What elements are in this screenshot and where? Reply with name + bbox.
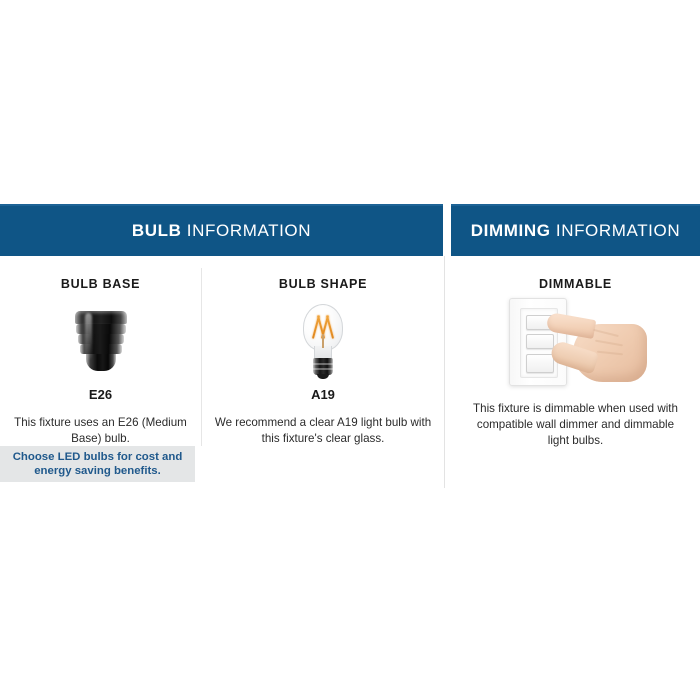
bulb-base-column: BULB BASE E26 This fixture uses an E26 (… xyxy=(0,256,201,447)
bulb-shape-title: BULB SHAPE xyxy=(202,277,444,291)
wall-dimmer-switch-icon xyxy=(501,298,651,386)
dimmable-artwork xyxy=(451,299,700,385)
dimming-information-header-rest: INFORMATION xyxy=(551,221,681,240)
dimmable-title: DIMMABLE xyxy=(451,277,700,291)
bulb-shape-description: We recommend a clear A19 light bulb with… xyxy=(202,415,444,447)
bulb-base-title: BULB BASE xyxy=(0,277,201,291)
bulb-information-header: BULB INFORMATION xyxy=(0,204,443,256)
bulb-information-header-text: BULB INFORMATION xyxy=(132,221,311,241)
e26-highlight xyxy=(85,313,92,359)
a19-stem xyxy=(322,334,324,348)
bulb-shape-artwork xyxy=(202,299,444,385)
bulb-shape-value: A19 xyxy=(202,387,444,402)
bulb-shape-column: BULB SHAPE A19 We recommend a clear A19 … xyxy=(202,256,444,447)
dimmable-column: DIMMABLE xyxy=(451,256,700,449)
main-vertical-divider xyxy=(444,256,445,488)
hand-icon xyxy=(545,312,649,386)
e26-screw-base-icon xyxy=(73,311,129,373)
section-header-row: BULB INFORMATION DIMMING INFORMATION xyxy=(0,204,700,256)
led-tip-text: Choose LED bulbs for cost and energy sav… xyxy=(0,450,195,479)
dimmable-description: This fixture is dimmable when used with … xyxy=(451,401,700,449)
dimming-information-header-strong: DIMMING xyxy=(471,221,551,240)
led-tip-callout: Choose LED bulbs for cost and energy sav… xyxy=(0,446,195,482)
e26-shoulder xyxy=(75,311,127,324)
hand-index-finger xyxy=(545,312,596,339)
bulb-and-dimming-info-panel: BULB INFORMATION DIMMING INFORMATION BUL… xyxy=(0,0,700,700)
bulb-base-value: E26 xyxy=(0,387,201,402)
bulb-base-artwork xyxy=(0,299,201,385)
a19-bulb-icon xyxy=(301,304,345,380)
bulb-base-description: This fixture uses an E26 (Medium Base) b… xyxy=(0,415,201,447)
dimming-information-header: DIMMING INFORMATION xyxy=(451,204,700,256)
dimming-information-header-text: DIMMING INFORMATION xyxy=(471,221,680,241)
bulb-information-header-rest: INFORMATION xyxy=(181,221,311,240)
bulb-information-header-strong: BULB xyxy=(132,221,182,240)
e26-thread-1 xyxy=(76,324,126,334)
a19-screw-cap xyxy=(313,358,333,375)
a19-foot-contact xyxy=(317,374,329,379)
